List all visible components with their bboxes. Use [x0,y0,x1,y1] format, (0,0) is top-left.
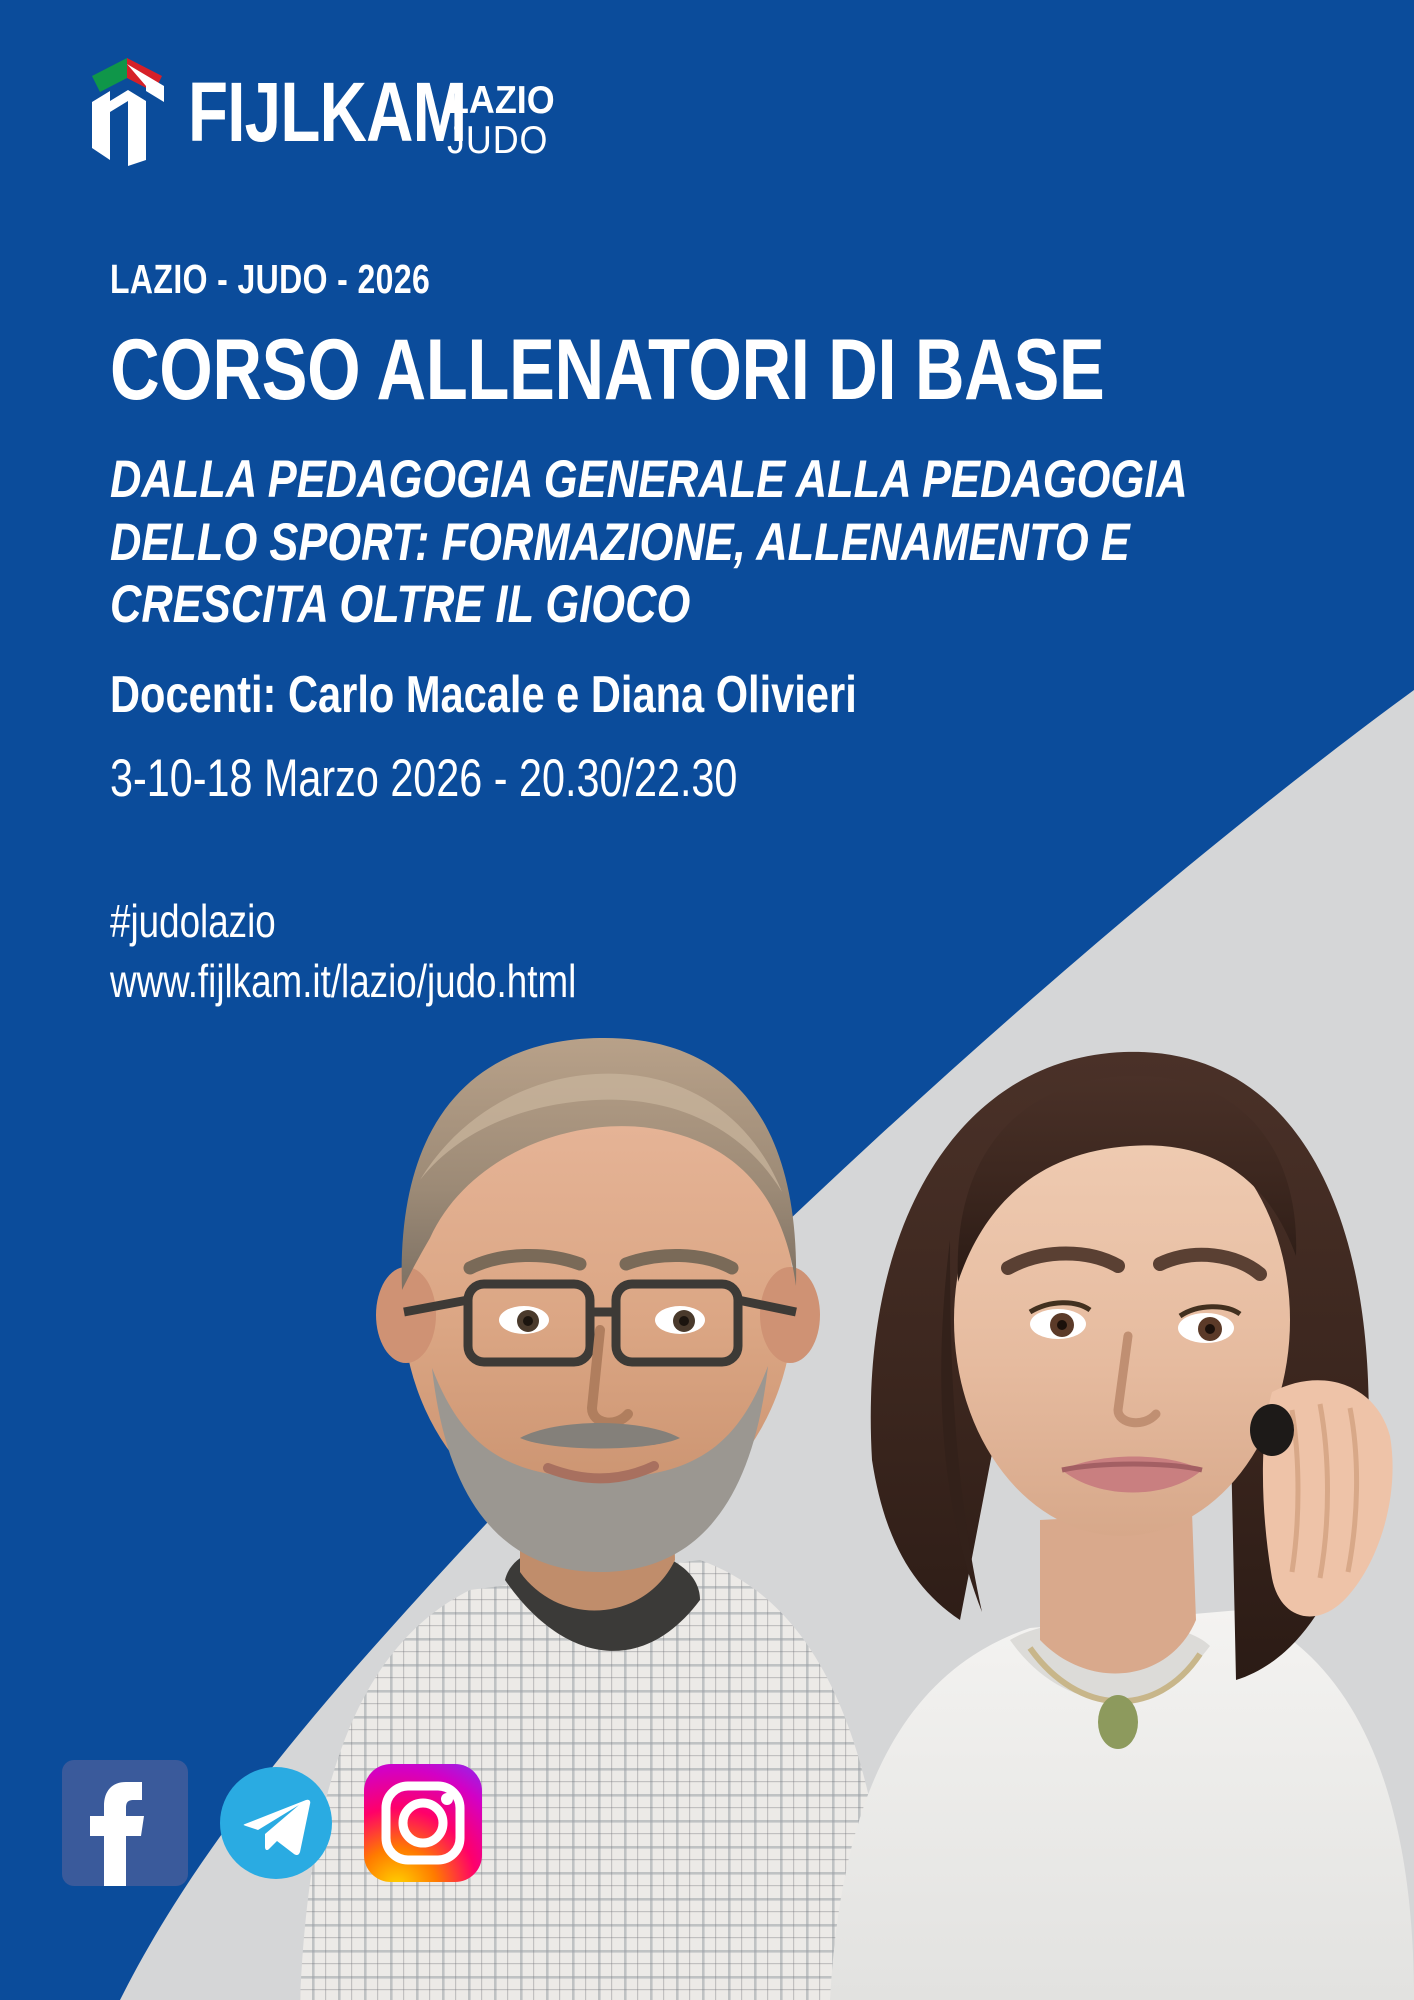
hashtag-label: #judolazio [110,892,1030,952]
teachers-line: Docenti: Carlo Macale e Diana Olivieri [110,667,1030,724]
poster-root: FIJLKAM LAZIO JUDO LAZIO - JUDO - 2026 C… [0,0,1414,2000]
subtitle-block: DALLA PEDAGOGIA GENERALE ALLA PEDAGOGIA … [110,449,1053,637]
telegram-icon[interactable] [220,1767,332,1879]
website-link[interactable]: www.fijlkam.it/lazio/judo.html [110,952,1030,1012]
subtitle-line-2: DELLO SPORT: FORMAZIONE, ALLENAMENTO E [110,512,1053,575]
instagram-icon[interactable] [364,1764,482,1882]
links-block: #judolazio www.fijlkam.it/lazio/judo.htm… [110,892,1030,1012]
kicker-line: LAZIO - JUDO - 2026 [110,256,1007,303]
social-links [62,1760,482,1886]
subtitle-line-1: DALLA PEDAGOGIA GENERALE ALLA PEDAGOGIA [110,449,1053,512]
page-title: CORSO ALLENATORI DI BASE [110,327,1030,413]
logo-region-label: LAZIO [447,81,555,121]
fijlkam-wordmark: FIJLKAM [188,76,466,150]
facebook-icon[interactable] [62,1760,188,1886]
subtitle-line-3: CRESCITA OLTRE IL GIOCO [110,574,1053,637]
poster-content: LAZIO - JUDO - 2026 CORSO ALLENATORI DI … [110,256,1260,1012]
fijlkam-wordmark-group: FIJLKAM LAZIO JUDO [188,56,564,162]
dates-line: 3-10-18 Marzo 2026 - 20.30/22.30 [110,750,1007,808]
logo-region-group: LAZIO JUDO [447,76,564,162]
fijlkam-logo[interactable]: FIJLKAM LAZIO JUDO [84,56,564,166]
fijlkam-shield-mark-icon [84,56,170,166]
logo-discipline-label: JUDO [447,121,555,162]
